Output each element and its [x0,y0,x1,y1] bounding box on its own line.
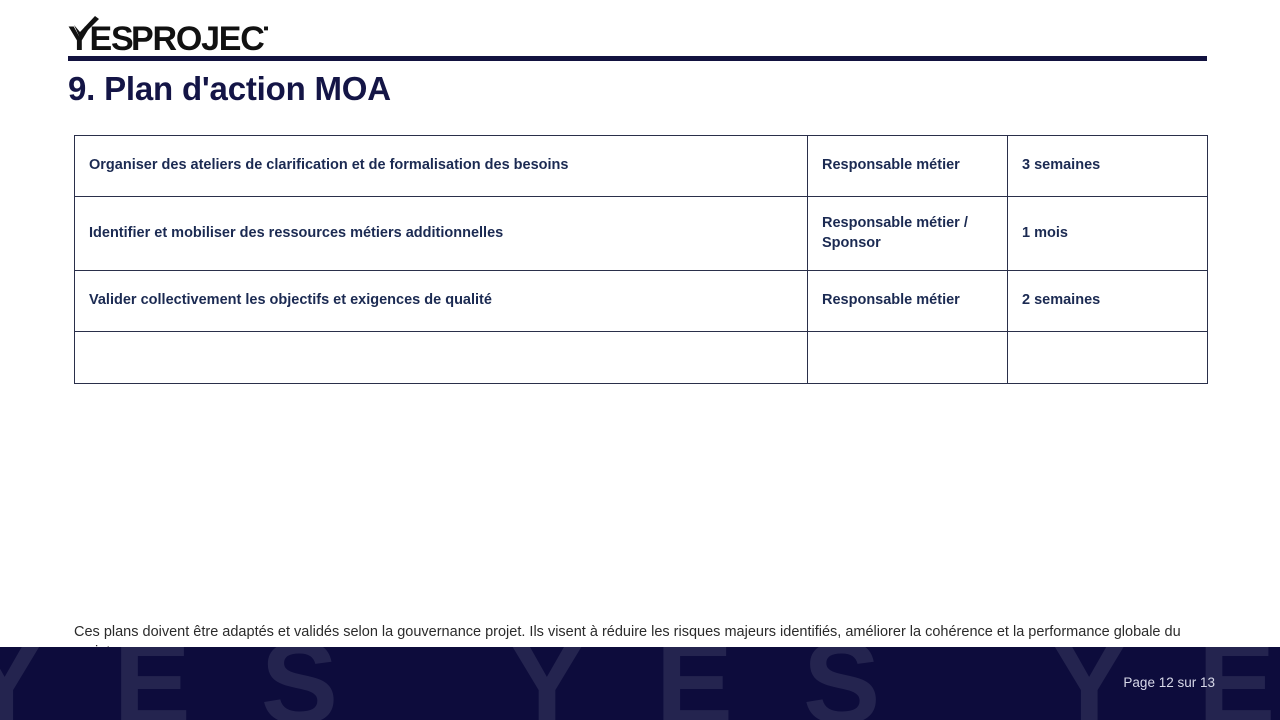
slide-header: YES PROJECT [0,0,1280,64]
table-row: Identifier et mobiliser des ressources m… [75,197,1208,271]
table-cell-task: Identifier et mobiliser des ressources m… [75,197,808,271]
table-row: Valider collectivement les objectifs et … [75,271,1208,332]
table-cell-task [75,332,808,384]
table-cell-delay: 2 semaines [1008,271,1208,332]
table-cell-owner: Responsable métier / Sponsor [808,197,1008,271]
brand-logo: YES PROJECT [68,17,268,53]
table-cell-delay: 3 semaines [1008,136,1208,197]
action-plan-table: Organiser des ateliers de clarification … [74,135,1208,384]
yes-project-logo-icon: YES PROJECT [68,16,268,54]
table-cell-delay [1008,332,1208,384]
footer-watermark: YES YES YES YES [0,647,1280,720]
svg-text:YES: YES [68,20,133,54]
table-cell-owner [808,332,1008,384]
table-cell-owner: Responsable métier [808,271,1008,332]
page-number: Page 12 sur 13 [1123,675,1215,690]
slide: YES PROJECT 9. Plan d'action MOA Organis… [0,0,1280,720]
table-row: Organiser des ateliers de clarification … [75,136,1208,197]
table-cell-task: Organiser des ateliers de clarification … [75,136,808,197]
table-cell-delay: 1 mois [1008,197,1208,271]
table-row-empty [75,332,1208,384]
header-divider [68,56,1207,61]
svg-text:PROJECT: PROJECT [131,20,268,54]
page-title: 9. Plan d'action MOA [68,70,391,108]
slide-footer: YES YES YES YES [0,647,1280,720]
table-cell-owner: Responsable métier [808,136,1008,197]
table-cell-task: Valider collectivement les objectifs et … [75,271,808,332]
